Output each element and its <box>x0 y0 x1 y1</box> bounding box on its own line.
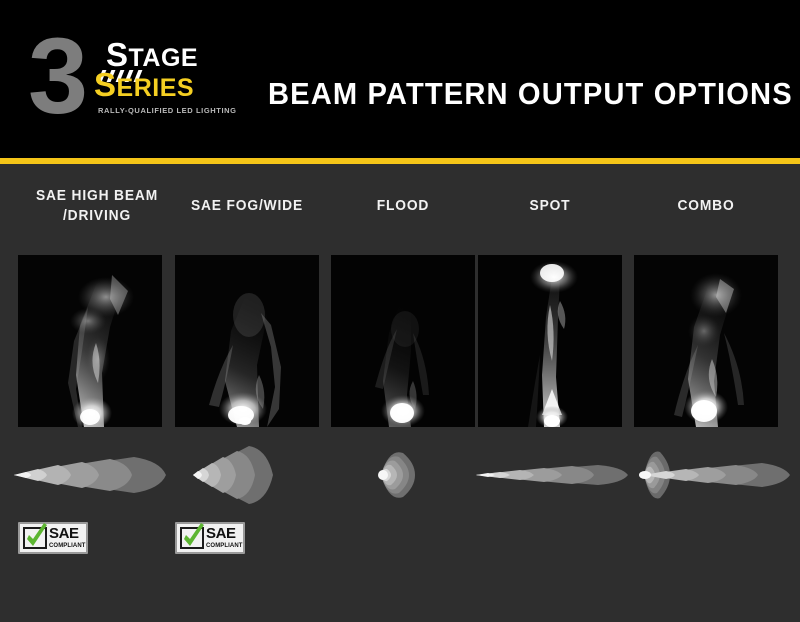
beam-photo-sae-high-beam-driving <box>18 255 162 427</box>
beam-photo-spot <box>478 255 622 427</box>
column-label: FLOOD <box>321 196 484 216</box>
sae-badge-subtitle: COMPLIANT <box>206 542 243 550</box>
sae-badge-subtitle: COMPLIANT <box>49 542 86 550</box>
beam-diagram-spot <box>466 442 636 508</box>
beam-pattern-grid: SAE HIGH BEAM /DRIVING <box>0 164 800 622</box>
beam-diagram-sae-high-beam-driving <box>6 442 176 508</box>
column-label: SAE FOG/WIDE <box>165 196 328 216</box>
logo-stage-rest: TAGE <box>129 44 199 72</box>
check-mark-icon <box>23 527 47 549</box>
logo-numeral: 3 <box>28 26 84 126</box>
brand-logo: 3 STAGE SERIES RALLY-QUALIFIED LED LIGHT… <box>28 28 243 128</box>
page-title: BEAM PATTERN OUTPUT OPTIONS <box>268 76 793 112</box>
column-label: SAE HIGH BEAM /DRIVING <box>16 186 178 226</box>
beam-diagram-flood <box>319 442 489 508</box>
sae-compliant-badge: SAE COMPLIANT <box>175 522 245 554</box>
beam-photo-flood <box>331 255 475 427</box>
beam-pattern-infographic: 3 STAGE SERIES RALLY-QUALIFIED LED LIGHT… <box>0 0 800 622</box>
logo-tagline: RALLY-QUALIFIED LED LIGHTING <box>98 106 237 115</box>
check-mark-icon <box>180 527 204 549</box>
beam-column-flood: FLOOD <box>327 164 479 622</box>
beam-photo-combo <box>634 255 778 427</box>
column-label: COMBO <box>624 196 787 216</box>
logo-word-series: SERIES <box>94 72 194 101</box>
sae-badge-title: SAE <box>206 526 236 542</box>
column-label: SPOT <box>468 196 631 216</box>
sae-badge-title: SAE <box>49 526 79 542</box>
header-bar: 3 STAGE SERIES RALLY-QUALIFIED LED LIGHT… <box>0 0 800 158</box>
column-label-line1: SPOT <box>468 196 631 216</box>
logo-series-rest: ERIES <box>117 74 195 102</box>
beam-photo-sae-fog-wide <box>175 255 319 427</box>
beam-column-sae-fog-wide: SAE FOG/WIDE <box>171 164 323 622</box>
logo-word-stage: STAGE <box>106 42 198 71</box>
beam-diagram-combo <box>622 442 792 508</box>
beam-column-spot: SPOT <box>474 164 626 622</box>
beam-diagram-sae-fog-wide <box>163 442 333 508</box>
column-label-line1: FLOOD <box>321 196 484 216</box>
beam-column-sae-high-beam-driving: SAE HIGH BEAM /DRIVING <box>14 164 166 622</box>
column-label-line1: SAE FOG/WIDE <box>165 196 328 216</box>
column-label-line1: COMBO <box>624 196 787 216</box>
beam-column-combo: COMBO <box>630 164 782 622</box>
sae-compliant-badge: SAE COMPLIANT <box>18 522 88 554</box>
column-label-line2: /DRIVING <box>16 206 178 226</box>
column-label-line1: SAE HIGH BEAM <box>16 186 178 206</box>
